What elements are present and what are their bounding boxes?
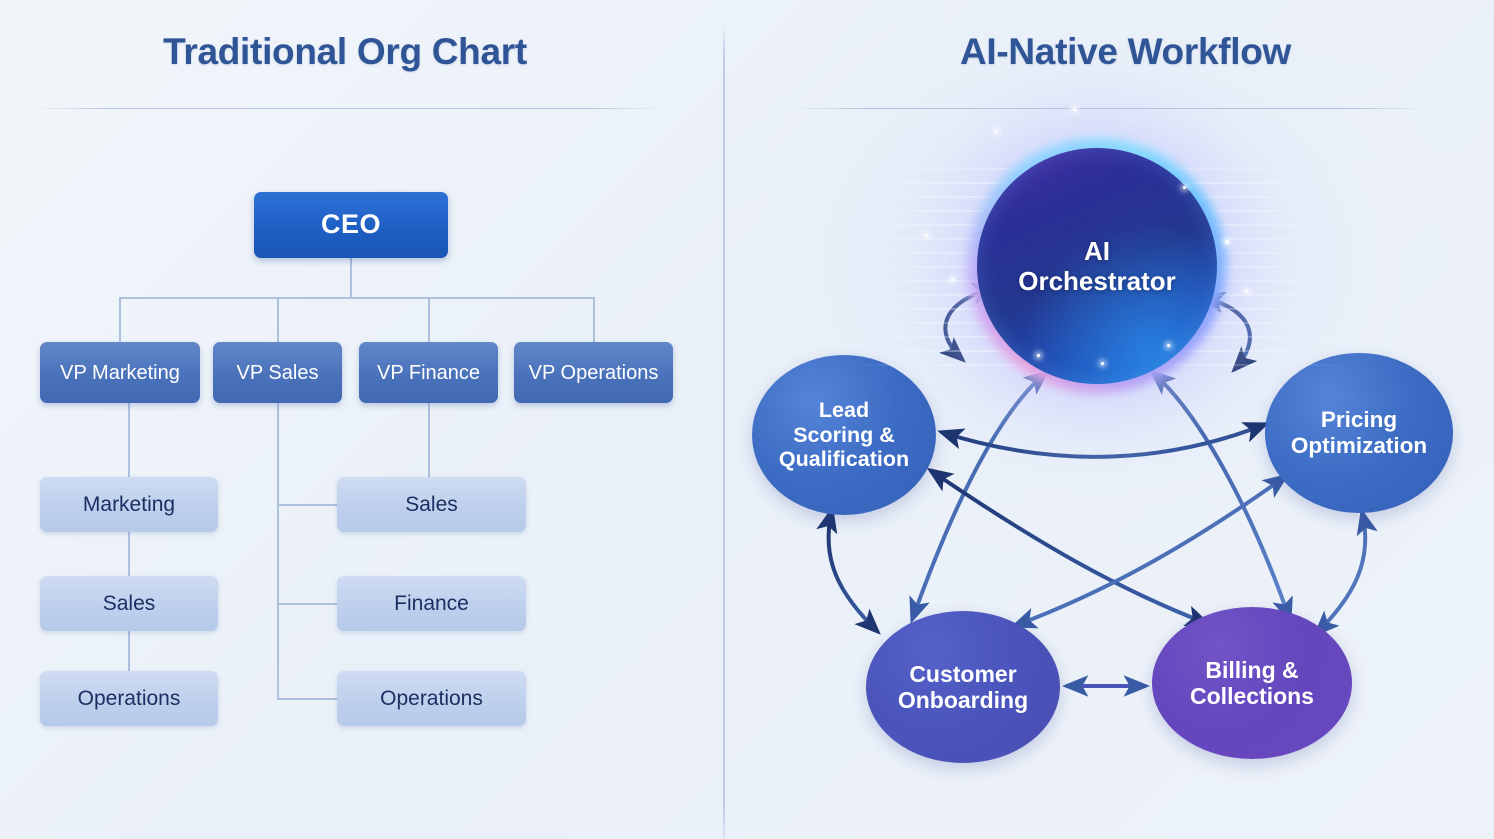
workflow-node-lead-scoring[interactable]: Lead Scoring & Qualification [752,355,936,515]
sparkle-icon [1101,362,1104,365]
sparkle-icon [1073,108,1076,111]
arrow-pricing-billing [1316,512,1365,634]
orchestrator-label: AI Orchestrator [1018,236,1176,296]
sparkle-icon [1037,354,1040,357]
sparkle-icon [1183,186,1186,189]
sparkle-icon [995,130,998,133]
workflow-node-billing-collections[interactable]: Billing & Collections [1152,607,1352,759]
workflow-node-pricing-optimization-label: Pricing Optimization [1291,407,1427,458]
workflow-node-lead-scoring-label: Lead Scoring & Qualification [779,398,909,472]
sparkle-icon [1245,290,1248,293]
sparkle-icon [1167,344,1170,347]
workflow-node-billing-collections-label: Billing & Collections [1190,657,1314,709]
arrow-lead-billing [930,470,1208,624]
orchestrator-core: AI Orchestrator [977,148,1217,384]
workflow-node-ai-orchestrator[interactable]: AI Orchestrator [977,148,1217,384]
workflow-node-customer-onboarding-label: Customer Onboarding [898,661,1028,713]
arrow-lead-onboarding [829,510,878,632]
sparkle-icon [925,234,928,237]
sparkle-icon [1225,240,1229,244]
sparkle-icon [951,278,954,281]
workflow-node-customer-onboarding[interactable]: Customer Onboarding [866,611,1060,763]
workflow-node-pricing-optimization[interactable]: Pricing Optimization [1265,353,1453,513]
diagram-canvas: Traditional Org Chart AI-Native Workflow… [0,0,1494,839]
